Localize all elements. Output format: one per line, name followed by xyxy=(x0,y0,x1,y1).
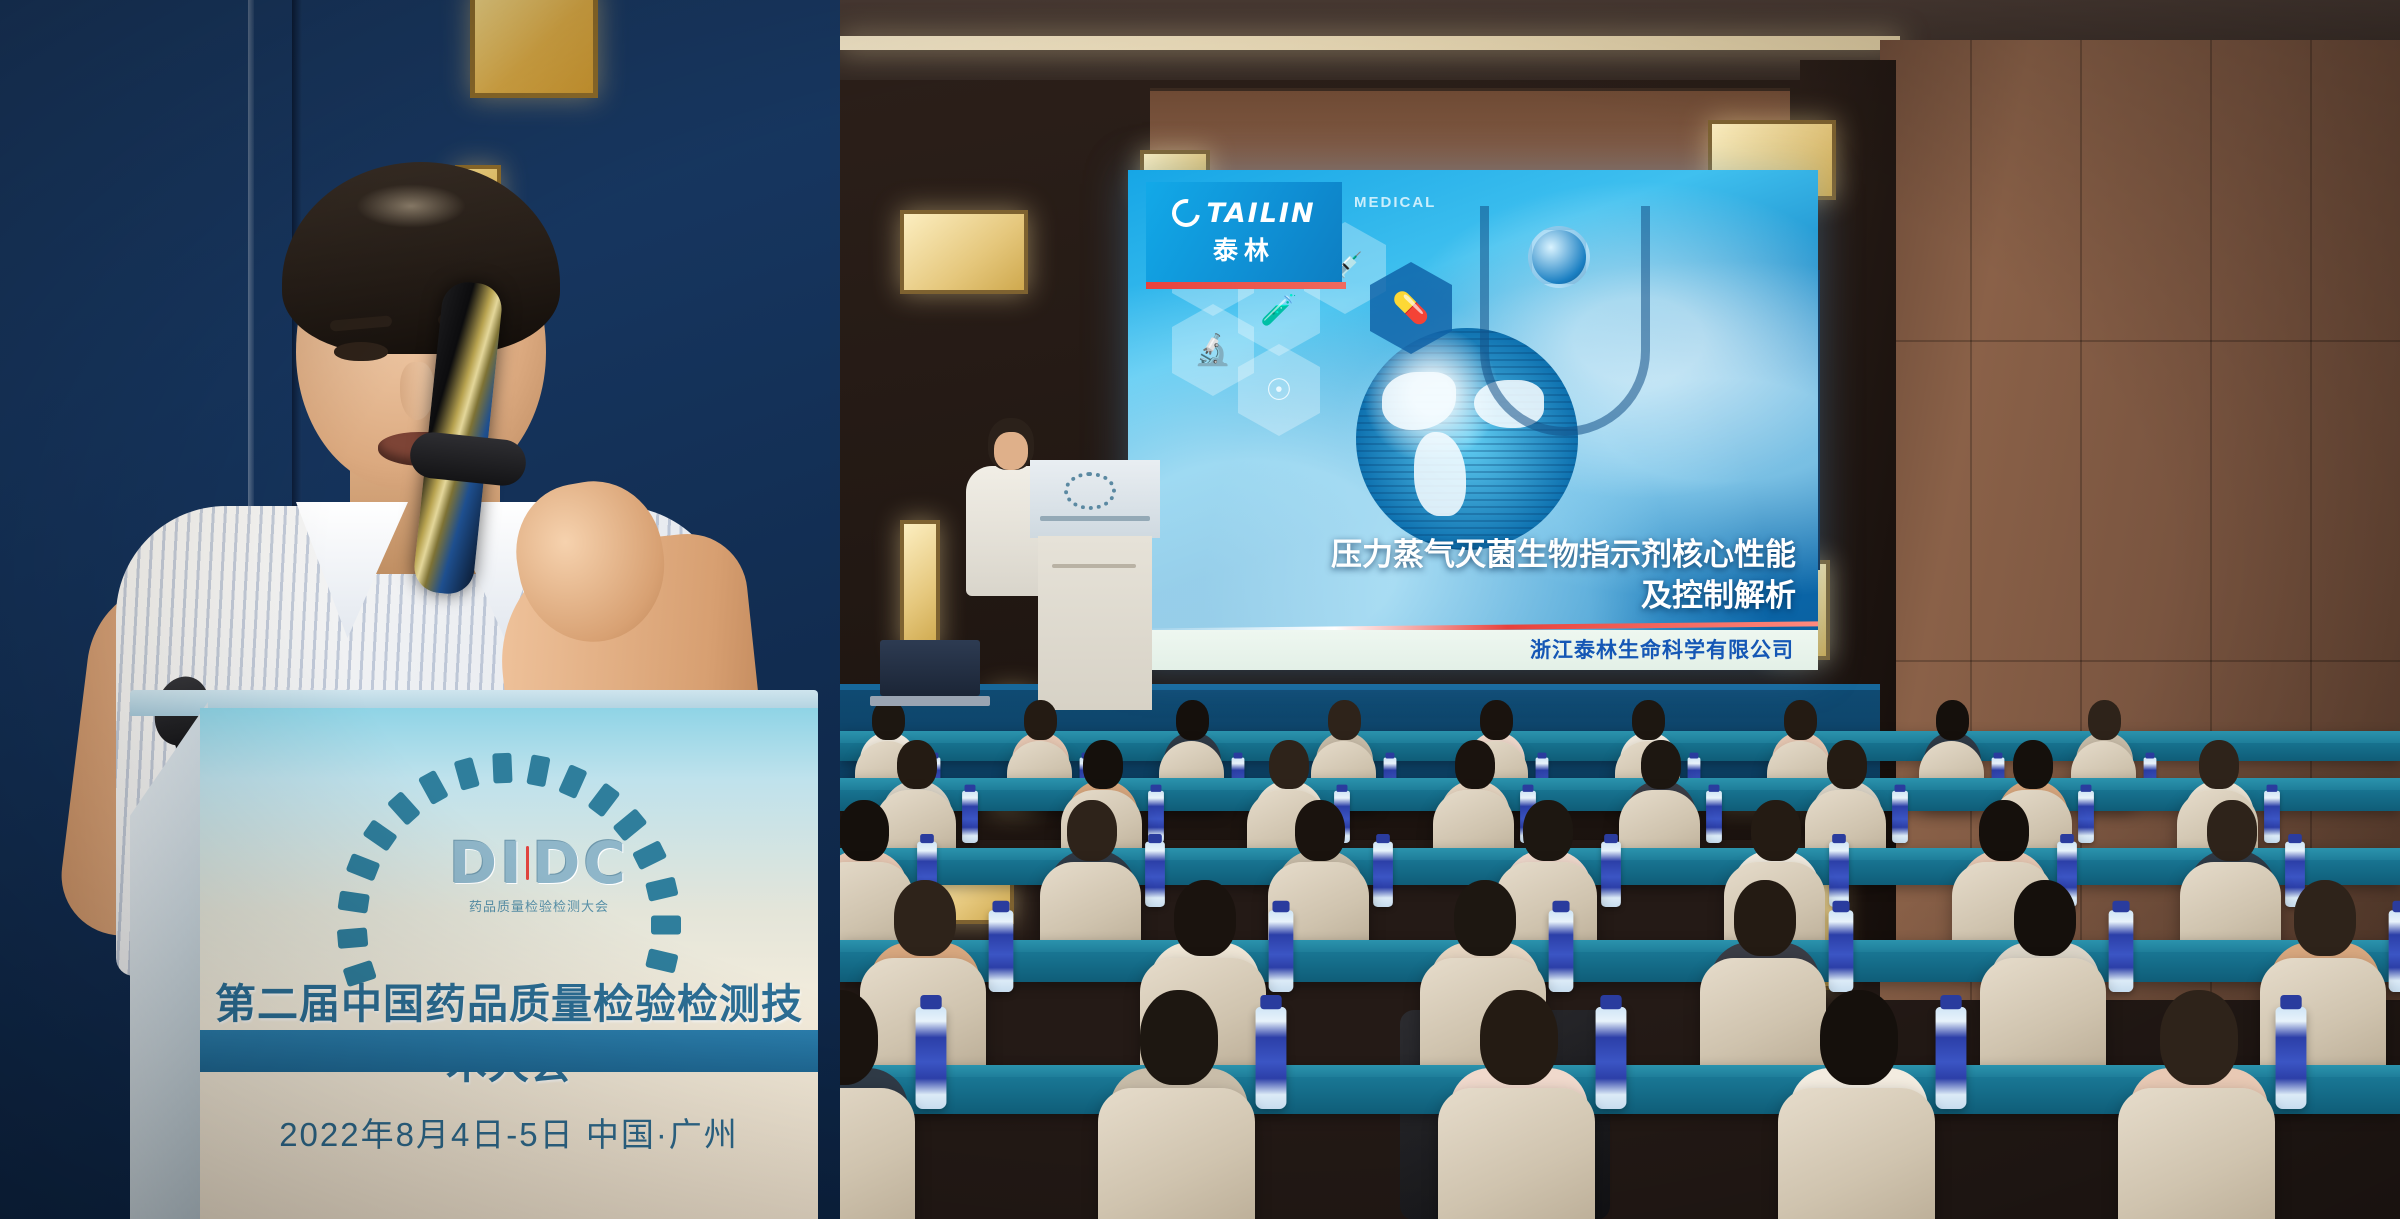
logo-ring-segment xyxy=(387,791,421,826)
water-bottle xyxy=(989,910,1014,992)
bottle-cap xyxy=(1709,784,1720,791)
logo-ring-segment xyxy=(587,782,620,817)
water-bottle xyxy=(1269,910,1294,992)
bottle-cap xyxy=(1149,834,1163,843)
gold-wall-light-panel xyxy=(470,0,598,98)
slide-company-name: 浙江泰林生命科学有限公司 xyxy=(1530,634,1794,664)
logo-ring-segment xyxy=(526,754,550,787)
tailin-logo-row: TAILIN xyxy=(1172,198,1315,229)
podium-accent-bar xyxy=(200,1030,818,1072)
audience-member-head xyxy=(2199,740,2239,789)
speaker-nose xyxy=(400,362,434,420)
tailin-logo-underline xyxy=(1146,282,1346,289)
logo-ring-segment xyxy=(362,819,397,852)
logo-ring-segment xyxy=(337,890,369,913)
audience-member-head xyxy=(1936,700,1968,740)
bottle-cap xyxy=(992,901,1009,912)
logo-ring-segment xyxy=(346,853,381,882)
tailin-brand-logo: TAILIN 泰林 xyxy=(1146,182,1342,282)
audience-member-head xyxy=(1632,700,1664,740)
audience-member-head xyxy=(2088,700,2120,740)
audience-member-head xyxy=(2013,740,2053,789)
stage-podium-date-line xyxy=(1052,564,1136,568)
bottle-cap xyxy=(1386,752,1395,758)
didc-letter-c: C xyxy=(583,829,627,897)
didc-letter-d2: D xyxy=(532,829,581,897)
audience-chair xyxy=(1438,1088,1596,1219)
podium-side-panel xyxy=(130,702,208,1219)
audience-member-head xyxy=(1067,800,1117,861)
bottle-cap xyxy=(2112,901,2129,912)
bottle-cap xyxy=(1832,901,1849,912)
water-bottle xyxy=(1892,790,1908,842)
bottle-cap xyxy=(1234,752,1243,758)
audience-member-head xyxy=(1295,800,1345,861)
audience-chair xyxy=(1098,1088,1256,1219)
bottle-cap xyxy=(921,834,935,843)
bottle-cap xyxy=(965,784,976,791)
audience-member-head xyxy=(1523,800,1573,861)
logo-ring-segment xyxy=(645,876,679,901)
logo-ring-segment xyxy=(632,840,667,870)
audience-member-head xyxy=(1083,740,1123,789)
stage-podium-body xyxy=(1038,536,1152,710)
water-bottle xyxy=(2109,910,2134,992)
foreground-left-wall: D I D C 药品质量检验检测大会 第二届中国药品质量检验检测技术大会 202… xyxy=(0,0,840,1219)
logo-ring-segment xyxy=(454,757,480,791)
water-bottle xyxy=(1549,910,1574,992)
conference-photo-scene: D I D C 药品质量检验检测大会 第二届中国药品质量检验检测技术大会 202… xyxy=(0,0,2400,1219)
audience-member-head xyxy=(1784,700,1816,740)
slide-title-line-1: 压力蒸气灭菌生物指示剂核心性能 xyxy=(1296,535,1796,575)
audience-member-head xyxy=(2160,990,2238,1085)
audience-chair xyxy=(840,1088,915,1219)
bottle-cap xyxy=(1260,995,1281,1009)
water-bottle xyxy=(1595,1006,1626,1108)
logo-ring-segment xyxy=(651,916,681,935)
gold-wall-light-panel xyxy=(900,520,940,650)
audience-member-head xyxy=(1820,990,1898,1085)
didc-logo-accent-block xyxy=(526,846,530,880)
audience-member-head xyxy=(1269,740,1309,789)
logo-ring-segment xyxy=(418,770,449,805)
didc-logo-letters: D I D C xyxy=(449,830,627,896)
water-bottle xyxy=(1706,790,1722,842)
water-bottle xyxy=(2275,1006,2306,1108)
laptop xyxy=(870,640,990,710)
bottle-cap xyxy=(1377,834,1391,843)
didc-logo-small-icon xyxy=(1064,472,1116,510)
audience-chair xyxy=(1778,1088,1936,1219)
water-bottle xyxy=(1255,1006,1286,1108)
hair-highlight xyxy=(356,184,466,228)
audience-member-head xyxy=(1176,700,1208,740)
bottle-cap xyxy=(2289,834,2303,843)
tailin-brand-en: TAILIN xyxy=(1206,198,1315,229)
audience-member-head xyxy=(2014,880,2076,956)
bottle-cap xyxy=(1940,995,1961,1009)
didc-logo-subtitle: 药品质量检验检测大会 xyxy=(447,896,631,915)
didc-conference-logo: D I D C 药品质量检验检测大会 xyxy=(391,770,627,938)
stage-podium-title-line xyxy=(1040,516,1150,521)
ceiling-light-strip xyxy=(840,36,1900,50)
water-bottle xyxy=(915,1006,946,1108)
bottle-cap xyxy=(2267,784,2278,791)
audience-member-head xyxy=(1480,700,1512,740)
audience-member-head xyxy=(840,800,889,861)
bottle-cap xyxy=(1552,901,1569,912)
logo-ring-segment xyxy=(558,764,588,799)
didc-letter-i: I xyxy=(500,829,523,897)
tailin-mark-icon xyxy=(1167,194,1206,233)
table-top-edge xyxy=(840,940,2400,952)
medical-watermark-text: MEDICAL xyxy=(1354,194,1436,211)
stethoscope-bell-icon xyxy=(1528,226,1590,288)
audience-member-head xyxy=(1328,700,1360,740)
audience-chair xyxy=(2118,1088,2276,1219)
water-bottle xyxy=(1935,1006,1966,1108)
bottle-cap xyxy=(2280,995,2301,1009)
audience-member-head xyxy=(897,740,937,789)
audience-member-head xyxy=(1979,800,2029,861)
audience-member-head xyxy=(1454,880,1516,956)
bottle-cap xyxy=(1833,834,1847,843)
bottle-cap xyxy=(2081,784,2092,791)
bottle-cap xyxy=(1605,834,1619,843)
water-bottle xyxy=(2078,790,2094,842)
bottle-cap xyxy=(1600,995,1621,1009)
audience-member-head xyxy=(1751,800,1801,861)
water-bottle xyxy=(2389,910,2400,992)
slide-title: 压力蒸气灭菌生物指示剂核心性能 及控制解析 xyxy=(1296,535,1796,616)
water-bottle xyxy=(962,790,978,842)
audience-member-head xyxy=(1480,990,1558,1085)
slide-title-line-2: 及控制解析 xyxy=(1296,576,1796,616)
wall-panel-seam xyxy=(1880,340,2400,342)
bottle-cap xyxy=(1538,752,1547,758)
speaker-eye xyxy=(334,342,388,361)
stage-podium-top xyxy=(1030,460,1160,538)
audience-member-head xyxy=(2207,800,2257,861)
water-bottle xyxy=(1829,910,1854,992)
logo-ring-segment xyxy=(337,927,368,948)
water-bottle xyxy=(1830,841,1850,906)
audience-member-head xyxy=(1140,990,1218,1085)
conference-hall: ♿ 🧪 🔬 💉 💊 ☉ MEDICAL TAILIN 泰林 压力蒸气灭菌生物指示… xyxy=(840,0,2400,1219)
stage-speaker-face xyxy=(994,432,1028,470)
audience-member-head xyxy=(1024,700,1056,740)
audience-member-head xyxy=(1827,740,1867,789)
gold-wall-light-panel xyxy=(900,210,1028,294)
laptop-screen xyxy=(880,640,980,696)
water-bottle xyxy=(1602,841,1622,906)
water-bottle xyxy=(1374,841,1394,906)
audience-member-head xyxy=(2294,880,2356,956)
logo-ring-segment xyxy=(492,753,512,784)
bottle-cap xyxy=(1523,784,1534,791)
tailin-brand-cn: 泰林 xyxy=(1213,231,1275,267)
conference-date-location: 2022年8月4日-5日 中国·广州 xyxy=(200,1108,818,1156)
bottle-cap xyxy=(1151,784,1162,791)
bottle-cap xyxy=(1272,901,1289,912)
bottle-cap xyxy=(920,995,941,1009)
bottle-cap xyxy=(2392,901,2400,912)
audience-table xyxy=(840,940,2400,982)
audience-member-head xyxy=(894,880,956,956)
wall-panel-seam xyxy=(1880,660,2400,662)
podium-front-panel: D I D C 药品质量检验检测大会 第二届中国药品质量检验检测技术大会 202… xyxy=(200,708,818,1219)
didc-letter-d1: D xyxy=(449,829,498,897)
audience-member-head xyxy=(1455,740,1495,789)
projection-screen: ♿ 🧪 🔬 💉 💊 ☉ MEDICAL TAILIN 泰林 压力蒸气灭菌生物指示… xyxy=(1128,170,1818,670)
audience-member-head xyxy=(1174,880,1236,956)
bottle-cap xyxy=(1337,784,1348,791)
laptop-base xyxy=(870,696,990,706)
audience-member-head xyxy=(1641,740,1681,789)
bottle-cap xyxy=(2061,834,2075,843)
bottle-cap xyxy=(2146,752,2155,758)
bottle-cap xyxy=(1895,784,1906,791)
stage-podium xyxy=(1030,460,1160,710)
audience-member-head xyxy=(1734,880,1796,956)
speaker-podium: D I D C 药品质量检验检测大会 第二届中国药品质量检验检测技术大会 202… xyxy=(130,690,818,1219)
